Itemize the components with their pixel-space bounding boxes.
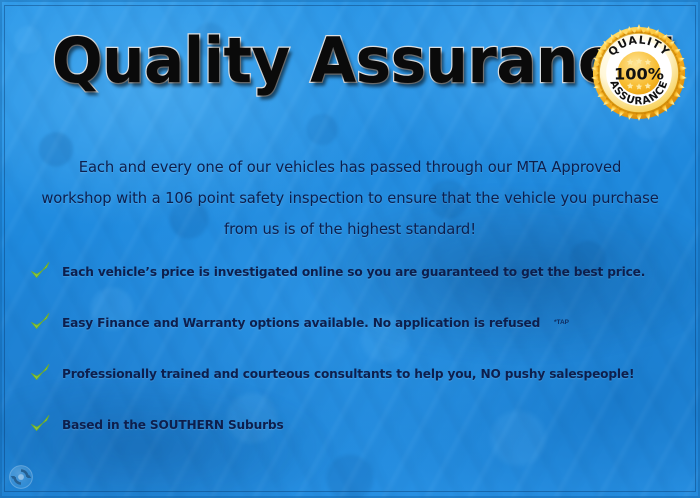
svg-text:100%: 100% <box>614 64 664 83</box>
check-mark-icon <box>28 412 52 436</box>
intro-paragraph: Each and every one of our vehicles has p… <box>26 152 674 245</box>
check-mark-icon <box>28 259 52 283</box>
list-item-label: Easy Finance and Warranty options availa… <box>62 315 540 330</box>
benefits-list: Each vehicle’s price is investigated onl… <box>28 256 680 460</box>
quality-assurance-banner: Quality Assurance! <box>0 0 700 498</box>
list-item: Professionally trained and courteous con… <box>28 358 680 388</box>
intro-line-2: workshop with a 106 point safety inspect… <box>36 183 665 214</box>
list-item: Each vehicle’s price is investigated onl… <box>28 256 680 286</box>
intro-line-3: from us is of the highest standard! <box>36 214 665 245</box>
list-item-label: Based in the SOUTHERN Suburbs <box>62 417 284 432</box>
intro-line-1: Each and every one of our vehicles has p… <box>36 152 665 183</box>
quality-assurance-seal-icon: QUALITY ASSURANCE 100% <box>590 24 688 122</box>
page-title: Quality Assurance! <box>52 30 679 92</box>
list-item: Easy Finance and Warranty options availa… <box>28 307 680 337</box>
check-mark-icon <box>28 361 52 385</box>
terms-note: *TAP <box>554 319 569 326</box>
list-item-label: Each vehicle’s price is investigated onl… <box>62 264 645 279</box>
rotate-360-icon[interactable] <box>8 464 34 490</box>
list-item: Based in the SOUTHERN Suburbs <box>28 409 680 439</box>
list-item-label: Professionally trained and courteous con… <box>62 366 634 381</box>
check-mark-icon <box>28 310 52 334</box>
